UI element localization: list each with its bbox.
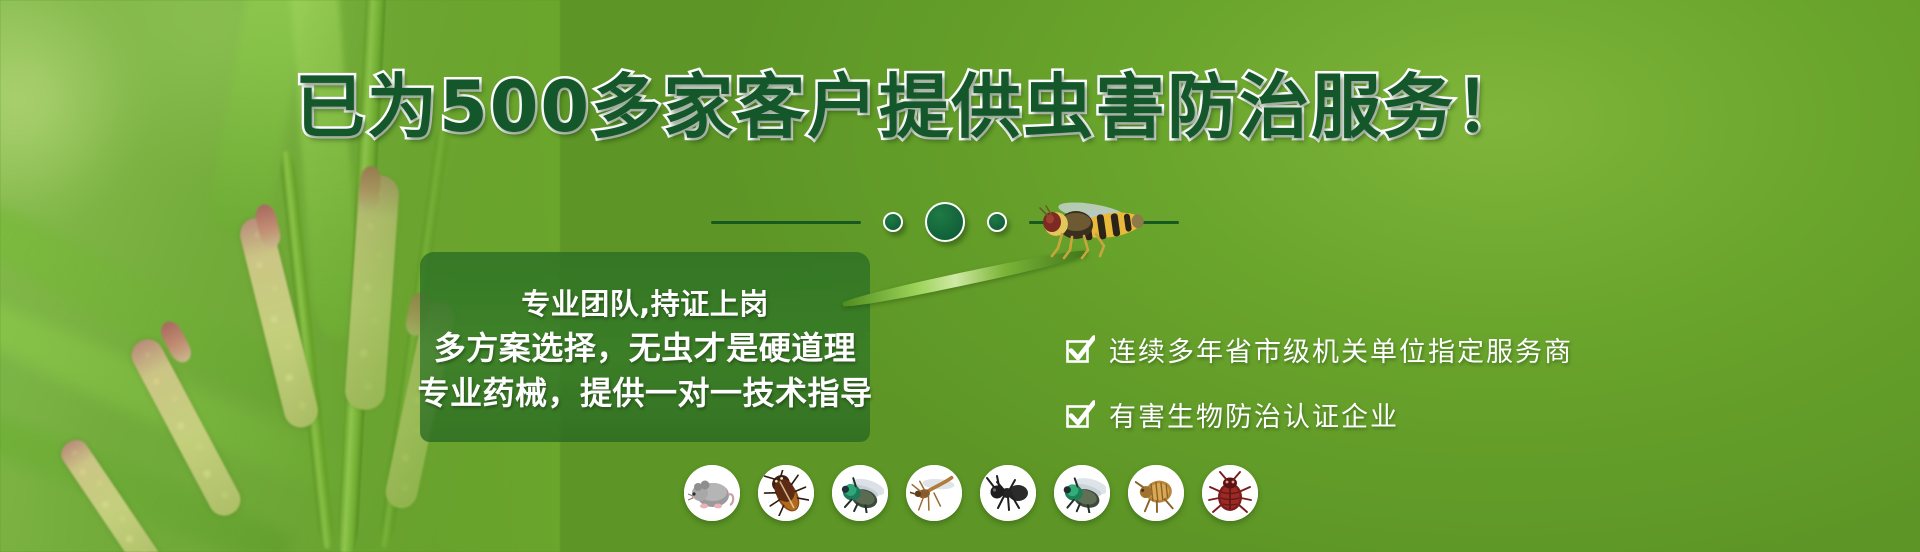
checkbox-checked-icon — [1065, 335, 1095, 365]
page-title: 已为500多家客户提供虫害防治服务！ — [295, 72, 1527, 142]
hoverfly-icon — [1018, 198, 1148, 262]
pest-icon-mosquito — [906, 465, 962, 521]
page-title-text: 已为500多家客户提供虫害防治服务！ — [295, 66, 1527, 148]
pest-icon-ant — [980, 465, 1036, 521]
selling-point-line-2: 多方案选择，无虫才是硬道理 — [434, 331, 857, 366]
pest-icon-flea — [1128, 465, 1184, 521]
ant-icon — [985, 472, 1031, 514]
credential-label: 连续多年省市级机关单位指定服务商 — [1109, 330, 1573, 369]
checkbox-checked-icon — [1065, 400, 1095, 430]
cockroach-icon — [763, 470, 809, 516]
blowfly-icon — [836, 473, 884, 513]
pest-icon-cockroach — [758, 465, 814, 521]
hoverfly-photo — [830, 190, 1160, 320]
pest-icon-housefly — [1054, 465, 1110, 521]
selling-points-card: 专业团队,持证上岗 多方案选择，无虫才是硬道理 专业药械，提供一对一技术指导 — [420, 252, 870, 442]
bedbug-icon — [1207, 471, 1253, 515]
mosquito-icon — [910, 473, 958, 513]
list-item: 连续多年省市级机关单位指定服务商 — [1065, 330, 1573, 369]
selling-point-line-3: 专业药械，提供一对一技术指导 — [418, 376, 873, 411]
list-item: 有害生物防治认证企业 — [1065, 395, 1573, 434]
flea-icon — [1133, 472, 1179, 514]
promo-banner: 已为500多家客户提供虫害防治服务！ 专业团队,持证上岗 多方案选择，无虫才是硬… — [0, 0, 1920, 552]
pest-icon-blowfly — [832, 465, 888, 521]
credentials-list: 连续多年省市级机关单位指定服务商 有害生物防治认证企业 — [1065, 330, 1573, 434]
pest-icon-bedbug — [1202, 465, 1258, 521]
credential-label: 有害生物防治认证企业 — [1109, 395, 1399, 434]
pest-icon-row — [684, 465, 1258, 521]
selling-point-line-1: 专业团队,持证上岗 — [521, 289, 769, 321]
rodent-icon — [688, 473, 736, 513]
pest-icon-rodent — [684, 465, 740, 521]
housefly-icon — [1058, 473, 1106, 513]
